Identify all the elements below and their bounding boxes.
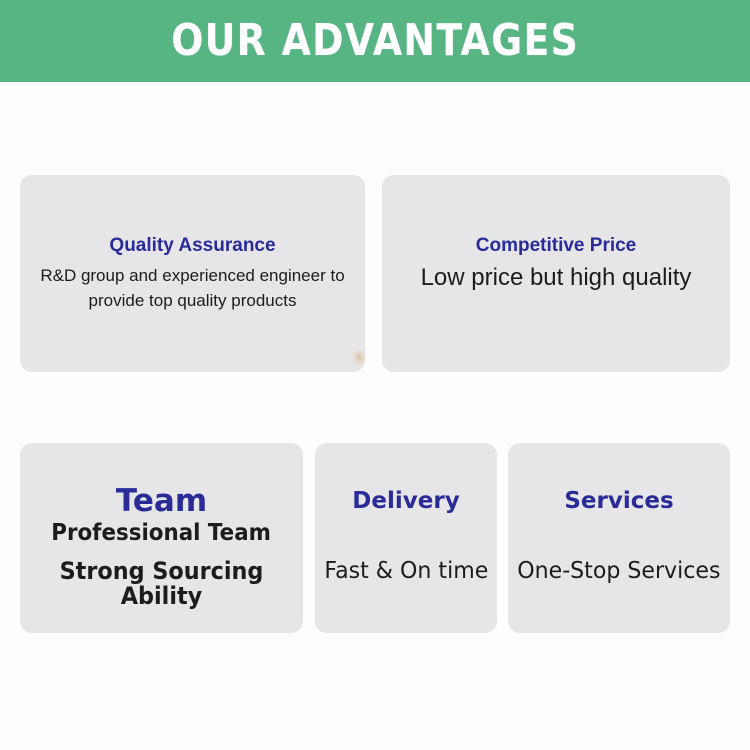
card-title-competitive-price: Competitive Price xyxy=(476,235,637,257)
advantage-card-team[interactable]: Team Professional Team Strong Sourcing A… xyxy=(20,443,303,633)
card-body-competitive-price: Low price but high quality xyxy=(421,262,692,294)
card-title-services: Services xyxy=(564,488,673,514)
advantage-card-delivery[interactable]: Delivery Fast & On time xyxy=(315,443,497,633)
advantage-card-quality-assurance[interactable]: Quality Assurance R&D group and experien… xyxy=(20,175,365,372)
advantage-card-competitive-price[interactable]: Competitive Price Low price but high qua… xyxy=(382,175,730,372)
card-body-team-line1: Professional Team xyxy=(52,521,272,545)
card-body-team-line2: Strong Sourcing Ability xyxy=(30,559,293,609)
card-body-quality-assurance: R&D group and experienced engineer to pr… xyxy=(33,264,353,313)
card-title-team: Team xyxy=(116,483,207,519)
card-body-delivery: Fast & On time xyxy=(324,558,488,584)
advantage-card-services[interactable]: Services One-Stop Services xyxy=(508,443,730,633)
header-banner: OUR ADVANTAGES xyxy=(0,0,750,82)
card-title-delivery: Delivery xyxy=(352,488,459,514)
card-body-services: One-Stop Services xyxy=(517,558,720,584)
card-title-quality-assurance: Quality Assurance xyxy=(109,235,275,257)
page-title: OUR ADVANTAGES xyxy=(171,19,579,63)
